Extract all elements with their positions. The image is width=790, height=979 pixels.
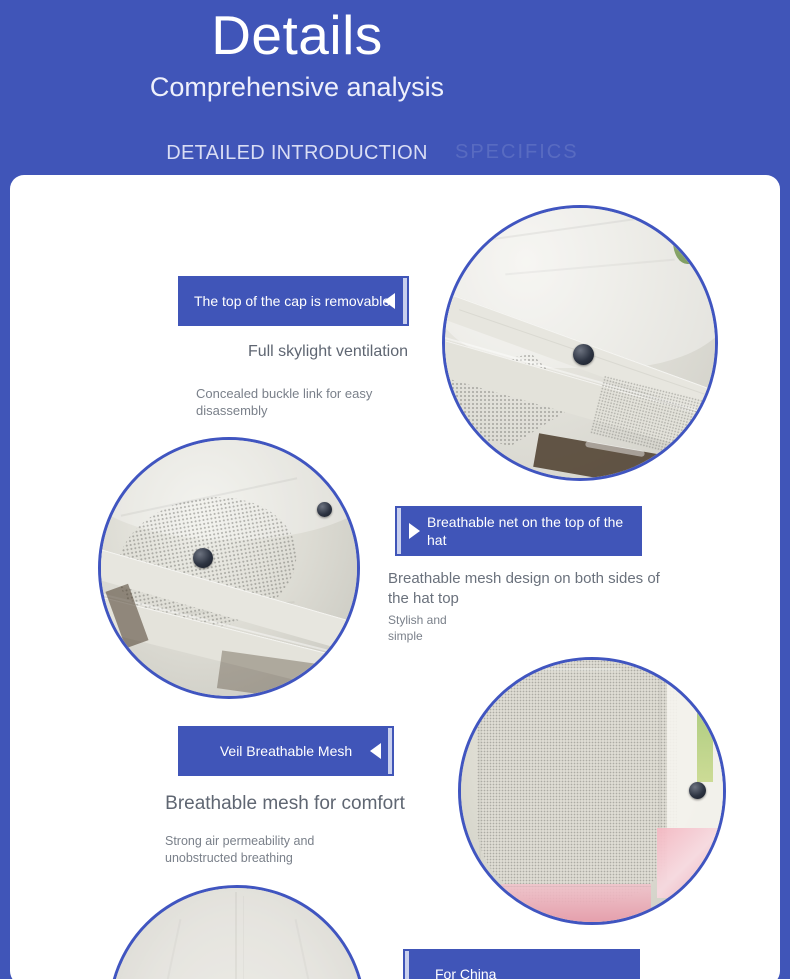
snap-button-icon — [689, 782, 706, 799]
snap-button-icon — [573, 344, 594, 365]
caption-stylish-and-simple: Stylish and simple — [388, 612, 478, 644]
callout-label-text: For China — [435, 965, 496, 979]
page-subtitle: Comprehensive analysis — [0, 72, 594, 103]
label-edge-accent — [403, 278, 407, 324]
caption-concealed-buckle: Concealed buckle link for easy disassemb… — [196, 385, 396, 419]
photo-for-china — [108, 885, 366, 979]
heading-breathable-mesh-for-comfort: Breathable mesh for comfort — [140, 792, 430, 816]
label-edge-accent — [397, 508, 401, 554]
content-card: The top of the cap is removable Full sky… — [10, 175, 780, 979]
label-edge-accent — [388, 728, 392, 774]
heading-breathable-mesh-both-sides: Breathable mesh design on both sides of … — [388, 569, 678, 609]
snap-button-secondary-icon — [317, 502, 332, 517]
photo-veil-breathable-mesh — [458, 657, 726, 925]
callout-label-for-china[interactable]: For China — [403, 949, 640, 979]
callout-label-cap-top-removable[interactable]: The top of the cap is removable — [178, 276, 409, 326]
arrow-left-icon — [370, 743, 381, 759]
callout-label-text: Breathable net on the top of the hat — [427, 513, 642, 549]
callout-label-breathable-net[interactable]: Breathable net on the top of the hat — [395, 506, 642, 556]
page-title: Details — [0, 4, 594, 66]
header-watermark: SPECIFICS — [455, 140, 579, 164]
snap-button-icon — [193, 548, 213, 568]
photo-cap-top-removable — [442, 205, 718, 481]
arrow-right-icon — [409, 523, 420, 539]
callout-label-veil-breathable-mesh[interactable]: Veil Breathable Mesh — [178, 726, 394, 776]
callout-label-text: Veil Breathable Mesh — [220, 742, 352, 760]
page-header: Details Comprehensive analysis DETAILED … — [0, 0, 790, 176]
arrow-left-icon — [384, 293, 395, 309]
caption-strong-air-permeability: Strong air permeability and unobstructed… — [165, 833, 355, 867]
label-edge-accent — [405, 951, 409, 979]
callout-label-text: The top of the cap is removable — [194, 292, 390, 310]
detail-page: Details Comprehensive analysis DETAILED … — [0, 0, 790, 979]
photo-breathable-net-top — [98, 437, 360, 699]
heading-full-skylight-ventilation: Full skylight ventilation — [238, 341, 418, 362]
